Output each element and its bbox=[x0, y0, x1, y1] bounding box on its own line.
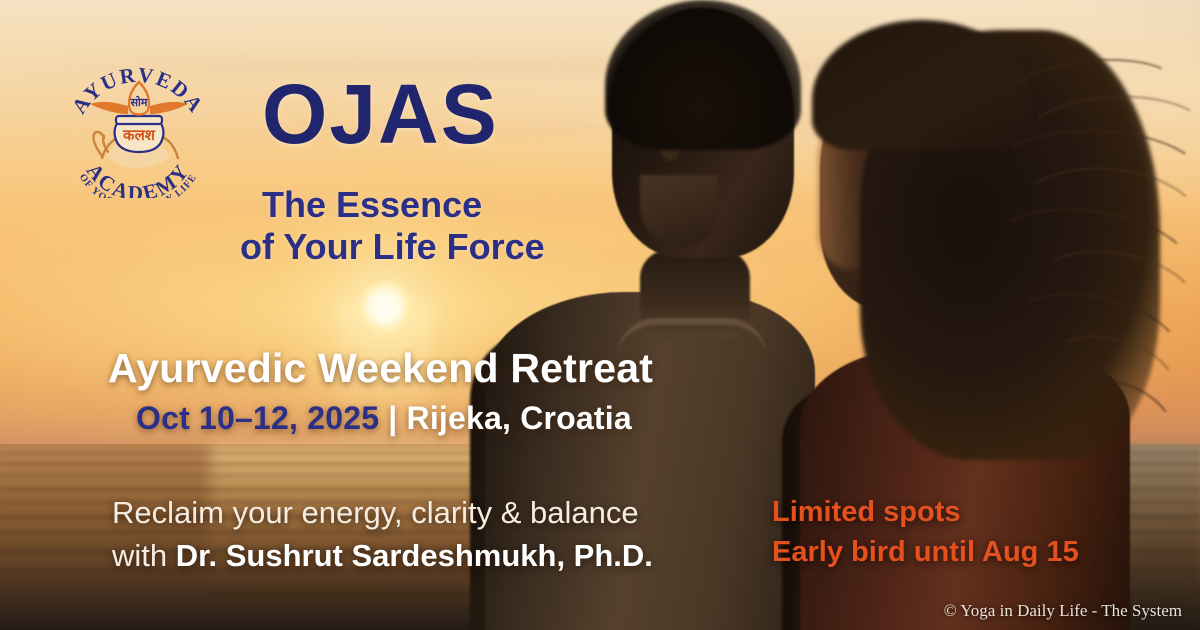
event-dateline: Oct 10–12, 2025 | Rijeka, Croatia bbox=[136, 400, 632, 437]
logo-top-arc-text: AYURVEDA bbox=[67, 63, 209, 118]
tagline-line-2: with Dr. Sushrut Sardeshmukh, Ph.D. bbox=[112, 535, 653, 578]
copyright-notice: © Yoga in Daily Life - The System bbox=[944, 601, 1182, 621]
tagline-prefix: with bbox=[112, 538, 176, 573]
cta-line-2: Early bird until Aug 15 bbox=[772, 532, 1079, 572]
presenter-name: Dr. Sushrut Sardeshmukh, Ph.D. bbox=[176, 538, 653, 573]
ayurveda-academy-logo: कलश सोम AYURVEDA ACADEMY OF YOGA IN DAIL… bbox=[62, 48, 214, 198]
subtitle-line-2: of Your Life Force bbox=[240, 226, 545, 268]
subtitle: The Essence of Your Life Force bbox=[262, 184, 545, 269]
tagline: Reclaim your energy, clarity & balance w… bbox=[112, 492, 653, 578]
cta-block: Limited spots Early bird until Aug 15 bbox=[772, 492, 1079, 572]
event-headline: Ayurvedic Weekend Retreat bbox=[108, 345, 653, 392]
promo-poster: कलश सोम AYURVEDA ACADEMY OF YOGA IN DAIL… bbox=[0, 0, 1200, 630]
som-glyph: सोम bbox=[130, 95, 148, 109]
tagline-line-1: Reclaim your energy, clarity & balance bbox=[112, 492, 653, 535]
event-location: Rijeka, Croatia bbox=[407, 400, 632, 436]
dateline-separator: | bbox=[379, 400, 406, 436]
kalash-glyph: कलश bbox=[122, 126, 156, 144]
subtitle-line-1: The Essence bbox=[262, 184, 482, 225]
page-title: OJAS bbox=[262, 72, 499, 156]
cta-line-1: Limited spots bbox=[772, 492, 1079, 532]
man-hair bbox=[605, 0, 801, 150]
event-date: Oct 10–12, 2025 bbox=[136, 400, 379, 436]
